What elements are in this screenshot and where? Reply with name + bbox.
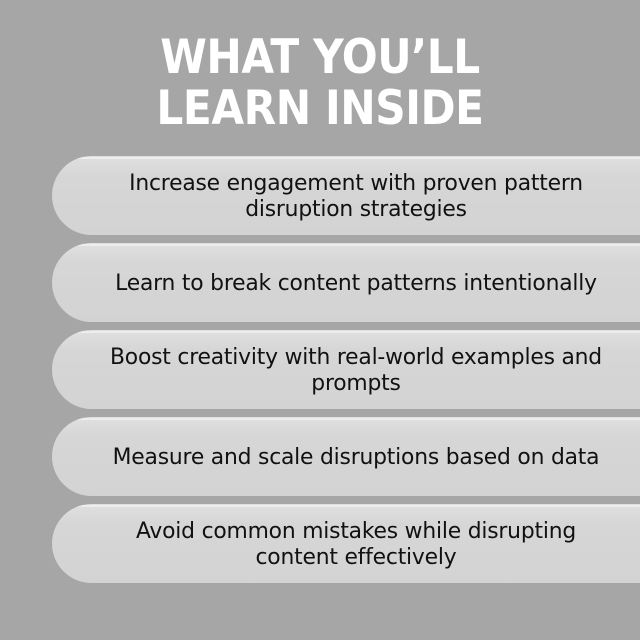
title-line-1: WHAT YOU’LL <box>32 34 608 81</box>
list-item: Avoid common mistakes while disrupting c… <box>52 504 640 583</box>
benefit-list: Increase engagement with proven pattern … <box>0 156 640 591</box>
list-item: Boost creativity with real-world example… <box>52 330 640 409</box>
page-title: WHAT YOU’LL LEARN INSIDE <box>0 34 640 132</box>
list-item-label: Avoid common mistakes while disrupting c… <box>106 518 607 570</box>
list-item: Increase engagement with proven pattern … <box>52 156 640 235</box>
list-item-label: Measure and scale disruptions based on d… <box>106 444 607 470</box>
title-line-2: LEARN INSIDE <box>32 85 608 132</box>
list-item-label: Boost creativity with real-world example… <box>106 344 607 396</box>
slide-canvas: WHAT YOU’LL LEARN INSIDE Increase engage… <box>0 0 640 640</box>
list-item: Learn to break content patterns intentio… <box>52 243 640 322</box>
list-item: Measure and scale disruptions based on d… <box>52 417 640 496</box>
list-item-label: Increase engagement with proven pattern … <box>106 170 607 222</box>
list-item-label: Learn to break content patterns intentio… <box>106 270 607 296</box>
